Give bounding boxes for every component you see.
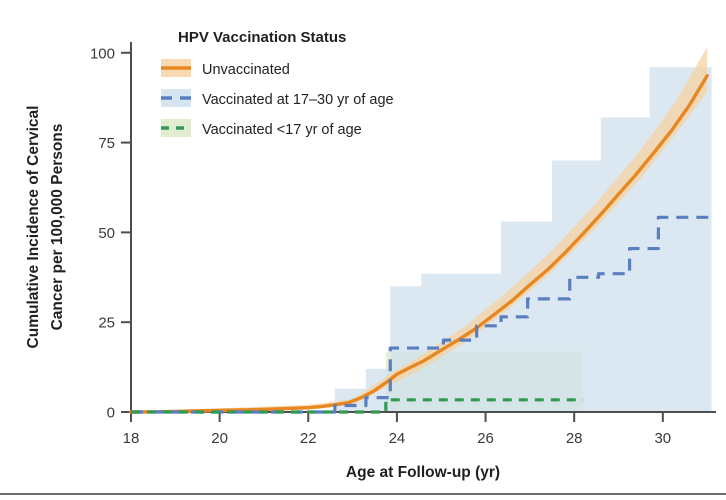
x-tick-label: 24 (389, 430, 406, 447)
x-tick-label: 20 (211, 430, 228, 447)
y-tick-label: 100 (90, 45, 115, 62)
x-tick-label: 28 (566, 430, 583, 447)
x-axis-title: Age at Follow-up (yr) (346, 464, 500, 481)
y-axis-title-line2: Cancer per 100,000 Persons (49, 124, 66, 331)
y-tick-label: 50 (98, 225, 115, 242)
legend-item-label: Vaccinated at 17–30 yr of age (202, 92, 394, 108)
legend-title: HPV Vaccination Status (178, 29, 346, 46)
y-tick-label: 75 (98, 135, 115, 152)
y-axis-title-line1: Cumulative Incidence of Cervical (25, 106, 42, 349)
cumulative-incidence-chart: 0255075100 18202224262830 Cumulative Inc… (0, 0, 726, 500)
legend-item-label: Vaccinated <17 yr of age (202, 122, 362, 138)
footer-rule (0, 493, 726, 495)
y-tick-label: 25 (98, 315, 115, 332)
x-tick-label: 26 (477, 430, 494, 447)
legend-item-label: Unvaccinated (202, 62, 290, 78)
figure-panel: 0255075100 18202224262830 Cumulative Inc… (0, 0, 726, 500)
x-tick-label: 30 (654, 430, 671, 447)
y-tick-label: 0 (107, 405, 115, 422)
x-tick-label: 22 (300, 430, 317, 447)
x-tick-label: 18 (123, 430, 140, 447)
